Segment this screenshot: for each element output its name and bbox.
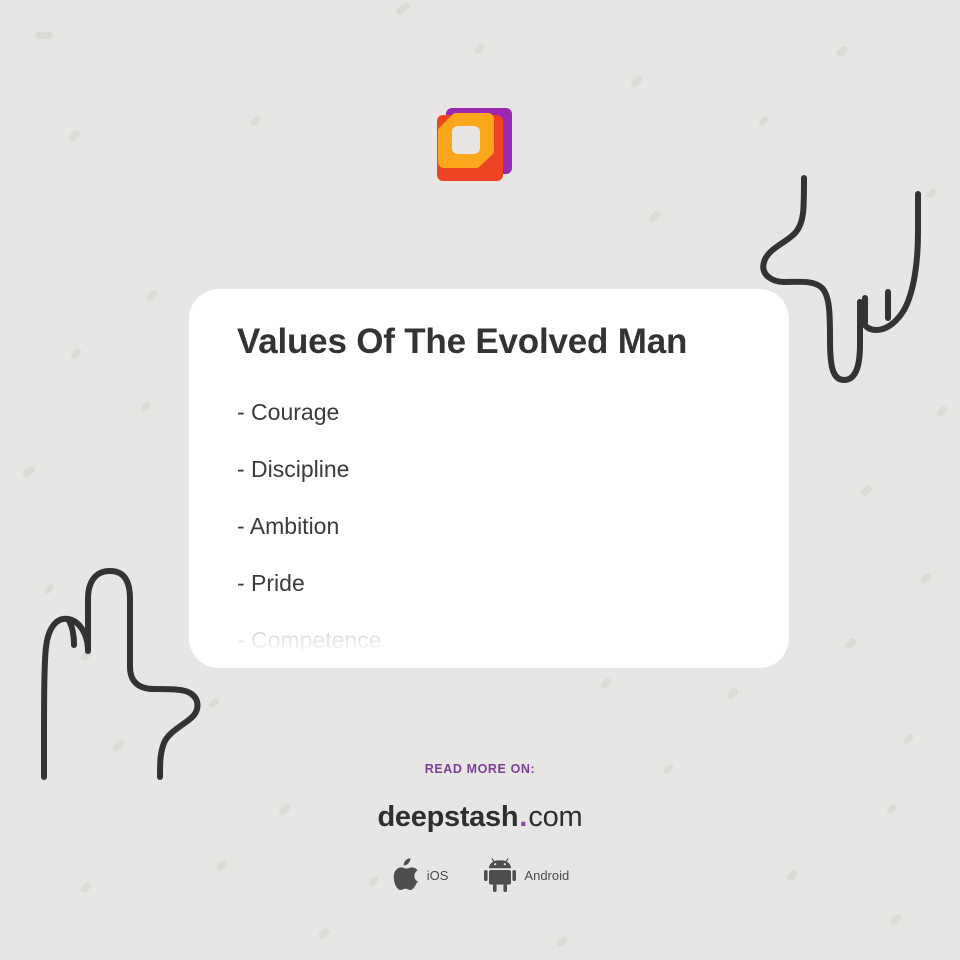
background-speck	[145, 289, 158, 303]
idea-card[interactable]: Values Of The Evolved Man - Courage - Di…	[189, 289, 789, 668]
background-speck	[317, 927, 330, 940]
background-speck	[844, 637, 857, 650]
background-speck	[21, 465, 35, 479]
wordmark-tld: com	[528, 801, 582, 833]
android-icon	[484, 858, 516, 892]
deepstash-logo-icon	[425, 100, 525, 200]
list-item: - Pride	[237, 572, 741, 595]
hand-illustration-left-icon	[18, 555, 208, 785]
values-list: - Courage - Discipline - Ambition - Prid…	[237, 401, 741, 652]
logo-inner-cutout	[452, 126, 480, 154]
store-badge-ios[interactable]: iOS	[391, 858, 449, 892]
background-speck	[139, 401, 151, 413]
store-badges: iOS Android	[0, 858, 960, 892]
background-speck	[757, 115, 769, 127]
background-speck	[859, 297, 872, 310]
background-speck	[835, 45, 848, 58]
background-speck	[725, 686, 739, 700]
background-speck	[629, 74, 643, 88]
background-speck	[473, 43, 485, 55]
background-speck	[889, 913, 902, 926]
background-speck	[902, 733, 914, 745]
background-speck	[67, 128, 81, 142]
list-item: - Discipline	[237, 458, 741, 481]
footer: READ MORE ON: deepstash.com iOS	[0, 762, 960, 892]
background-speck	[555, 935, 569, 948]
background-speck	[249, 115, 261, 127]
store-label-android: Android	[524, 868, 569, 883]
background-speck	[859, 483, 873, 497]
store-badge-android[interactable]: Android	[484, 858, 569, 892]
background-speck	[925, 187, 938, 200]
apple-icon	[391, 858, 419, 892]
background-speck	[395, 1, 412, 17]
page-title: Values Of The Evolved Man	[237, 321, 741, 363]
background-speck	[919, 572, 932, 585]
background-speck	[79, 649, 92, 662]
wordmark-dot: .	[518, 801, 528, 833]
background-speck	[647, 209, 661, 223]
background-speck	[69, 347, 82, 360]
list-item: - Competence	[237, 629, 741, 652]
background-speck	[599, 677, 612, 690]
background-speck	[207, 697, 219, 709]
deepstash-idea-card-image: Values Of The Evolved Man - Courage - Di…	[0, 0, 960, 960]
background-speck	[43, 583, 55, 595]
idea-card-content: Values Of The Evolved Man - Courage - Di…	[189, 289, 789, 652]
background-speck	[35, 32, 53, 39]
store-label-ios: iOS	[427, 868, 449, 883]
list-item: - Courage	[237, 401, 741, 424]
background-speck	[935, 405, 948, 418]
deepstash-wordmark[interactable]: deepstash.com	[0, 803, 960, 832]
wordmark-brand: deepstash	[378, 801, 519, 833]
list-item: - Ambition	[237, 515, 741, 538]
read-more-label: READ MORE ON:	[0, 762, 960, 776]
background-speck	[111, 738, 125, 752]
